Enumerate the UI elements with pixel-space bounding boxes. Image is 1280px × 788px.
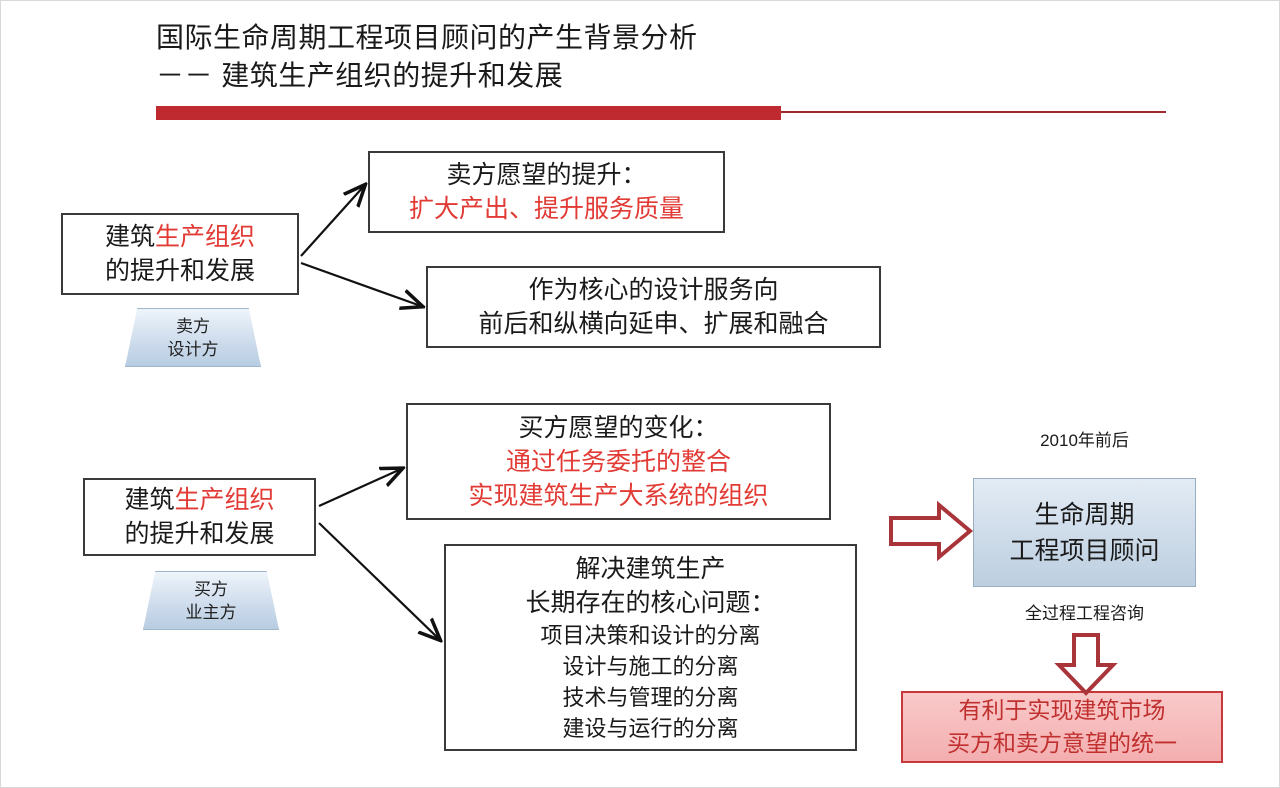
buyer-outcome-1-line-2: 通过任务委托的整合 bbox=[506, 445, 731, 479]
seller-outcome-box-2: 作为核心的设计服务向 前后和纵横向延申、扩展和融合 bbox=[426, 266, 881, 348]
seller-outcome-1-line-2: 扩大产出、提升服务质量 bbox=[409, 192, 684, 226]
buyer-outcome-1-line-1: 买方愿望的变化： bbox=[518, 411, 718, 445]
seller-source-line-2: 的提升和发展 bbox=[105, 254, 255, 288]
result-caption: 全过程工程咨询 bbox=[973, 599, 1196, 624]
seller-source-box: 建筑生产组织 的提升和发展 bbox=[61, 213, 299, 295]
buyer-outcome-2-item-2: 设计与施工的分离 bbox=[562, 651, 738, 682]
buyer-source-box: 建筑生产组织 的提升和发展 bbox=[83, 478, 316, 556]
buyer-source-line-1-highlight: 生产组织 bbox=[175, 486, 275, 514]
seller-source-line-1-highlight: 生产组织 bbox=[155, 223, 255, 251]
red-down-arrow-icon bbox=[1059, 635, 1113, 693]
slide-canvas: 国际生命周期工程项目顾问的产生背景分析 －－ 建筑生产组织的提升和发展 建筑生产… bbox=[0, 0, 1280, 788]
result-box: 生命周期 工程项目顾问 bbox=[973, 478, 1196, 587]
page-title: 国际生命周期工程项目顾问的产生背景分析 －－ 建筑生产组织的提升和发展 bbox=[156, 19, 1176, 95]
red-right-arrow-icon bbox=[891, 505, 970, 557]
buyer-source-line-2: 的提升和发展 bbox=[124, 517, 274, 551]
arrow-seller-to-outcome-2 bbox=[301, 263, 421, 306]
era-label: 2010年前后 bbox=[973, 426, 1196, 451]
title-line-1: 国际生命周期工程项目顾问的产生背景分析 bbox=[156, 19, 1176, 57]
buyer-outcome-2-line-1: 解决建筑生产 bbox=[575, 552, 725, 586]
seller-outcome-2-line-2: 前后和纵横向延申、扩展和融合 bbox=[478, 307, 828, 341]
seller-source-line-1-prefix: 建筑 bbox=[105, 223, 155, 251]
seller-outcome-2-line-1: 作为核心的设计服务向 bbox=[528, 273, 778, 307]
buyer-outcome-box-2: 解决建筑生产 长期存在的核心问题： 项目决策和设计的分离 设计与施工的分离 技术… bbox=[444, 544, 857, 751]
title-line-2: －－ 建筑生产组织的提升和发展 bbox=[156, 57, 1176, 95]
seller-outcome-1-line-1: 卖方愿望的提升： bbox=[446, 158, 646, 192]
buyer-role-tag: 买方 业主方 bbox=[143, 571, 279, 630]
buyer-source-line-1: 建筑生产组织 bbox=[124, 483, 274, 517]
result-box-line-1: 生命周期 bbox=[1034, 497, 1134, 533]
title-rule-thick bbox=[156, 106, 781, 120]
seller-role-tag-line-1: 卖方 bbox=[176, 315, 210, 338]
buyer-outcome-2-item-1: 项目决策和设计的分离 bbox=[540, 620, 760, 651]
buyer-outcome-box-1: 买方愿望的变化： 通过任务委托的整合 实现建筑生产大系统的组织 bbox=[406, 403, 831, 520]
conclusion-line-2: 买方和卖方意望的统一 bbox=[947, 727, 1177, 760]
conclusion-box: 有利于实现建筑市场 买方和卖方意望的统一 bbox=[901, 691, 1223, 763]
arrow-buyer-to-outcome-2 bbox=[319, 523, 439, 639]
seller-role-tag: 卖方 设计方 bbox=[125, 308, 261, 367]
buyer-role-tag-line-2: 业主方 bbox=[186, 601, 237, 624]
seller-source-line-1: 建筑生产组织 bbox=[105, 220, 255, 254]
result-box-line-2: 工程项目顾问 bbox=[1009, 533, 1159, 569]
buyer-outcome-2-item-3: 技术与管理的分离 bbox=[562, 682, 738, 713]
buyer-source-line-1-prefix: 建筑 bbox=[124, 486, 174, 514]
buyer-role-tag-line-1: 买方 bbox=[194, 578, 228, 601]
seller-outcome-box-1: 卖方愿望的提升： 扩大产出、提升服务质量 bbox=[368, 151, 725, 233]
seller-role-tag-line-2: 设计方 bbox=[168, 338, 219, 361]
arrow-seller-to-outcome-1 bbox=[301, 186, 364, 256]
buyer-outcome-2-line-2: 长期存在的核心问题： bbox=[525, 586, 775, 620]
arrow-buyer-to-outcome-1 bbox=[319, 469, 401, 506]
conclusion-line-1: 有利于实现建筑市场 bbox=[959, 694, 1166, 727]
buyer-outcome-2-item-4: 建设与运行的分离 bbox=[562, 713, 738, 744]
buyer-outcome-1-line-3: 实现建筑生产大系统的组织 bbox=[468, 479, 768, 513]
